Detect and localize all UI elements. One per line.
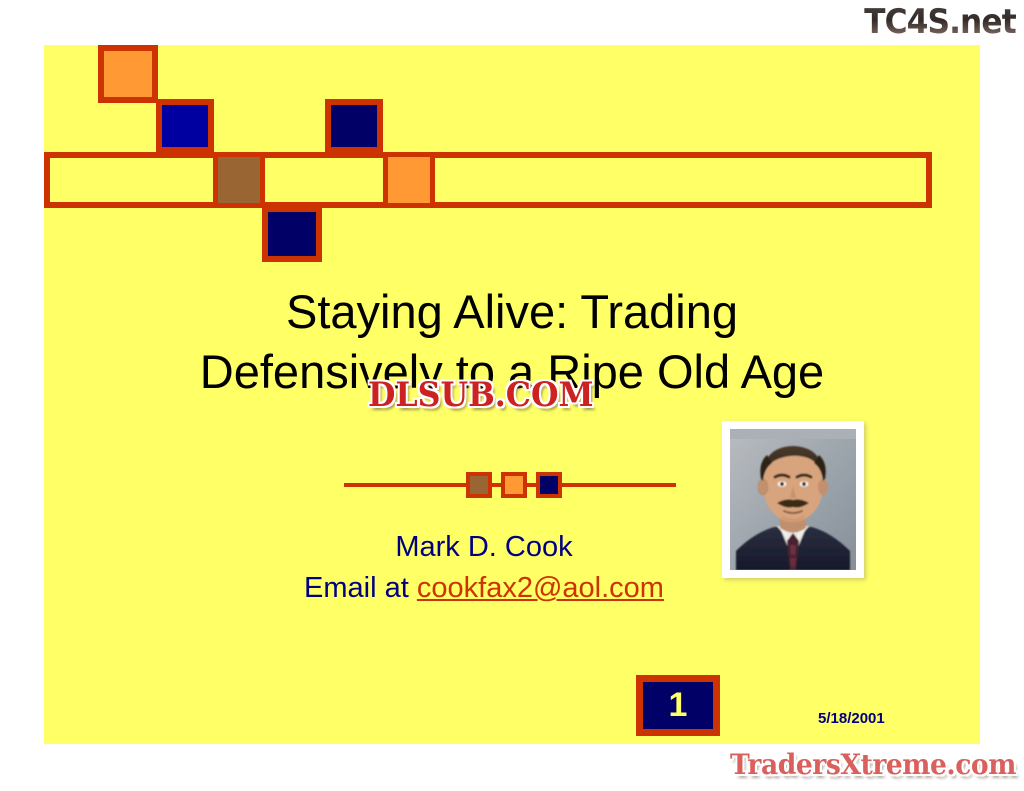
author-portrait-frame	[722, 421, 864, 578]
watermark-dlsub: DLSUB.COM	[368, 375, 594, 415]
email-label: Email at	[304, 572, 417, 604]
decorative-horizontal-bar	[44, 152, 932, 208]
slide-date: 5/18/2001	[818, 710, 885, 727]
email-link[interactable]: cookfax2@aol.com	[417, 572, 664, 604]
navy-square-right	[325, 99, 383, 153]
divider-square-orange	[501, 472, 527, 498]
watermark-tradersxtreme: TradersXtreme.com	[730, 748, 1016, 781]
divider-square-navy	[536, 472, 562, 498]
avatar	[730, 429, 856, 570]
orange-bar-cell	[383, 152, 435, 208]
watermark-tc4s: TC4S.net	[864, 2, 1016, 42]
page-number-badge: 1	[636, 675, 720, 736]
divider-square-brown	[466, 472, 492, 498]
slide-root: Staying Alive: Trading Defensively to a …	[0, 0, 1024, 791]
navy-square-bottom	[262, 206, 322, 262]
orange-square-top	[98, 45, 158, 103]
brown-bar-cell	[213, 152, 265, 208]
portrait-photo	[730, 429, 856, 570]
blue-square-left	[156, 99, 214, 153]
divider-ornament	[344, 470, 676, 500]
